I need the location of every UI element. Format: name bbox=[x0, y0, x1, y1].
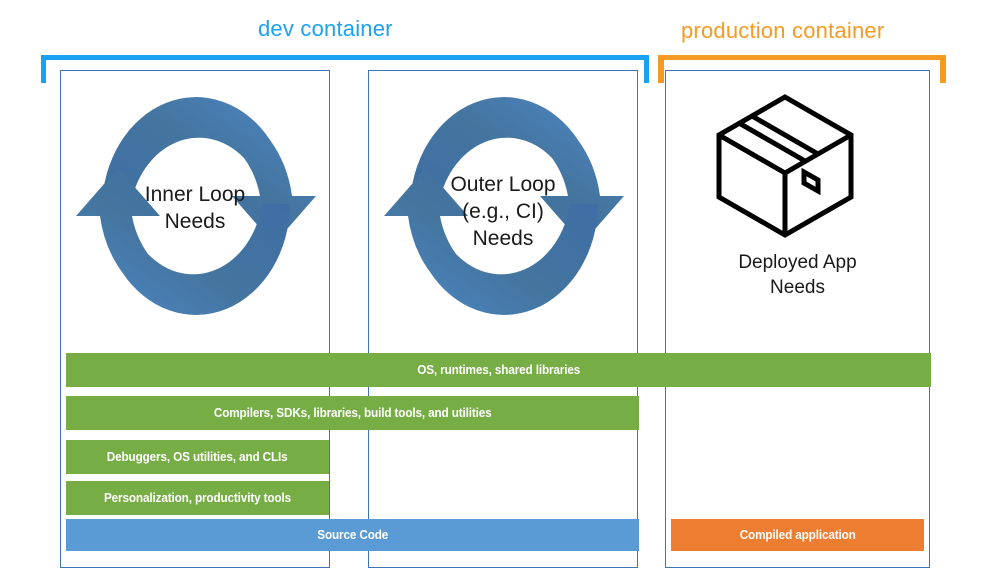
layer-bar-debuggers-label: Debuggers, OS utilities, and CLIs bbox=[107, 450, 288, 464]
dev-bracket-cap-right bbox=[644, 55, 649, 83]
production-bracket-cap-right bbox=[940, 55, 946, 83]
dev-bracket-cap-left bbox=[41, 55, 46, 83]
layer-bar-os-runtimes-label: OS, runtimes, shared libraries bbox=[417, 363, 580, 377]
layer-bar-compilers: Compilers, SDKs, libraries, build tools,… bbox=[66, 396, 639, 430]
layer-bar-os-runtimes: OS, runtimes, shared libraries bbox=[66, 353, 931, 387]
inner-loop-heading: Inner Loop Needs bbox=[100, 182, 290, 236]
deployed-app-heading: Deployed App Needs bbox=[680, 250, 915, 300]
layer-bar-compiled-application-label: Compiled application bbox=[739, 528, 855, 542]
layer-bar-source-code: Source Code bbox=[66, 519, 639, 551]
dev-container-label: dev container bbox=[258, 18, 393, 40]
production-bracket-rule bbox=[658, 55, 946, 60]
layer-bar-debuggers: Debuggers, OS utilities, and CLIs bbox=[66, 440, 329, 474]
layer-bar-compiled-application: Compiled application bbox=[671, 519, 924, 551]
dev-bracket-rule bbox=[41, 55, 649, 60]
production-bracket-cap-left bbox=[658, 55, 664, 83]
layer-bar-source-code-label: Source Code bbox=[317, 528, 388, 542]
package-box-icon bbox=[714, 92, 856, 240]
layer-bar-personalization-label: Personalization, productivity tools bbox=[104, 491, 291, 505]
outer-loop-heading: Outer Loop (e.g., CI) Needs bbox=[408, 172, 598, 253]
diagram-canvas: dev container production container bbox=[0, 0, 1000, 572]
layer-bar-compilers-label: Compilers, SDKs, libraries, build tools,… bbox=[214, 406, 492, 420]
layer-bar-personalization: Personalization, productivity tools bbox=[66, 481, 329, 515]
production-container-label: production container bbox=[681, 20, 884, 42]
